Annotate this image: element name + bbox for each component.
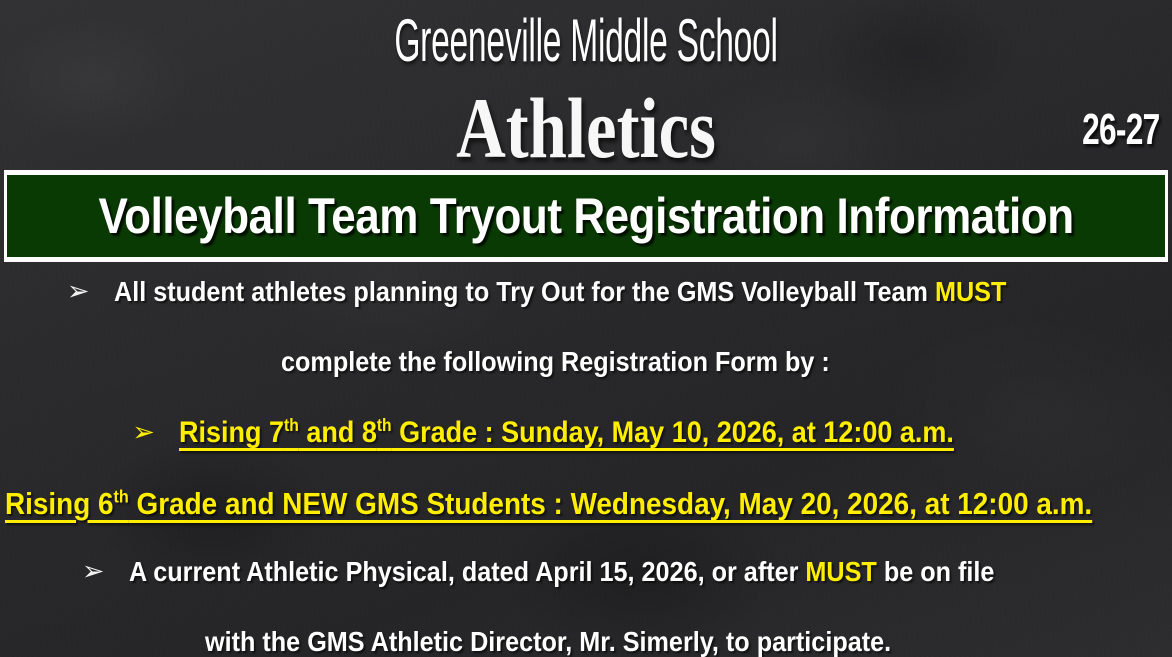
bullet-line-1: ➢ All student athletes planning to Try O…: [0, 276, 1172, 346]
arrow-outline-icon: ➢: [67, 278, 90, 305]
line1-highlight: MUST: [935, 276, 1006, 307]
banner-border: Volleyball Team Tryout Registration Info…: [4, 170, 1168, 262]
body-line-2: complete the following Registration Form…: [0, 346, 1172, 416]
arrow-solid-yellow-icon: ➢: [132, 419, 155, 446]
bullet-line-5-text: A current Athletic Physical, dated April…: [129, 556, 994, 588]
banner: Volleyball Team Tryout Registration Info…: [7, 175, 1165, 257]
page-title: Athletics: [117, 78, 1055, 178]
line3-part-b: and 8: [299, 416, 377, 449]
banner-title: Volleyball Team Tryout Registration Info…: [98, 187, 1073, 245]
body-line-2-text: complete the following Registration Form…: [281, 346, 830, 378]
line5-part-b: be on file: [876, 556, 994, 587]
body-line-6: with the GMS Athletic Director, Mr. Sime…: [0, 626, 1172, 657]
line5-part-a: A current Athletic Physical, dated April…: [129, 556, 805, 587]
line4-superscript-1: th: [114, 487, 129, 507]
line3-part-c: Grade : Sunday, May 10, 2026, at 12:00 a…: [391, 416, 953, 449]
line3-part-a: Rising 7: [179, 416, 284, 449]
slide-canvas: Greeneville Middle School Athletics 26-2…: [0, 0, 1172, 657]
line5-highlight: MUST: [805, 556, 876, 587]
line3-superscript-1: th: [284, 415, 299, 435]
bullet-line-4-text: Rising 6th Grade and NEW GMS Students : …: [5, 486, 1092, 522]
line4-part-a: Rising 6: [5, 486, 114, 521]
school-year-badge: 26-27: [1083, 105, 1160, 155]
body-content: ➢ All student athletes planning to Try O…: [0, 268, 1172, 657]
bullet-line-4: ➢ Rising 6th Grade and NEW GMS Students …: [0, 486, 1172, 556]
slide-header: Greeneville Middle School Athletics 26-2…: [0, 0, 1172, 168]
line4-part-b: Grade and NEW GMS Students : Wednesday, …: [129, 486, 1092, 521]
body-line-6-text: with the GMS Athletic Director, Mr. Sime…: [205, 626, 891, 657]
bullet-line-1-text: All student athletes planning to Try Out…: [114, 276, 1006, 308]
bullet-line-3: ➢ Rising 7th and 8th Grade : Sunday, May…: [0, 416, 1172, 486]
school-name: Greeneville Middle School: [258, 6, 914, 75]
arrow-outline-icon: ➢: [82, 558, 105, 585]
line1-prefix: All student athletes planning to Try Out…: [114, 276, 935, 307]
line3-superscript-2: th: [377, 415, 392, 435]
bullet-line-5: ➢ A current Athletic Physical, dated Apr…: [0, 556, 1172, 626]
bullet-line-3-text: Rising 7th and 8th Grade : Sunday, May 1…: [179, 416, 954, 450]
